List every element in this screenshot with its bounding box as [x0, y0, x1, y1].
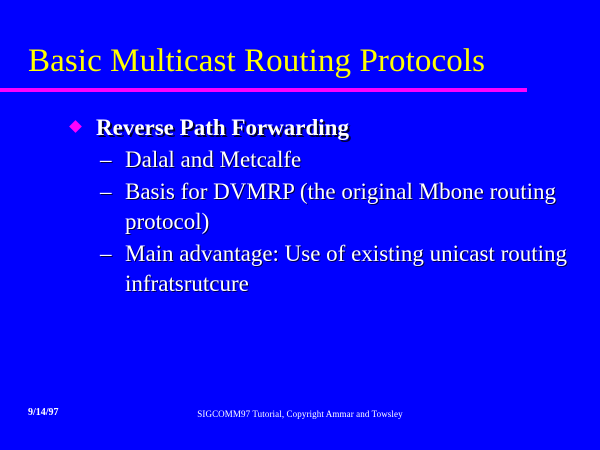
slide-body: Reverse Path Forwarding – Dalal and Metc…: [70, 113, 580, 299]
en-dash-bullet-icon: –: [100, 239, 112, 269]
title-underline-rule: [0, 88, 527, 92]
bullet-level2: – Dalal and Metcalfe: [70, 145, 580, 175]
diamond-bullet-icon: [69, 120, 82, 133]
slide-canvas: Basic Multicast Routing Protocols Revers…: [0, 0, 600, 450]
bullet-level2-label: Basis for DVMRP (the original Mbone rout…: [125, 179, 556, 234]
bullet-level1-label: Reverse Path Forwarding: [96, 115, 349, 140]
en-dash-bullet-icon: –: [100, 177, 112, 207]
bullet-level2-label: Main advantage: Use of existing unicast …: [125, 241, 567, 296]
bullet-level2: – Main advantage: Use of existing unicas…: [70, 239, 580, 299]
en-dash-bullet-icon: –: [100, 145, 112, 175]
page-title: Basic Multicast Routing Protocols: [28, 41, 573, 81]
footer-copyright: SIGCOMM97 Tutorial, Copyright Ammar and …: [0, 407, 600, 421]
bullet-level2: – Basis for DVMRP (the original Mbone ro…: [70, 177, 580, 237]
bullet-level2-label: Dalal and Metcalfe: [125, 147, 301, 172]
bullet-level1: Reverse Path Forwarding: [70, 113, 580, 142]
